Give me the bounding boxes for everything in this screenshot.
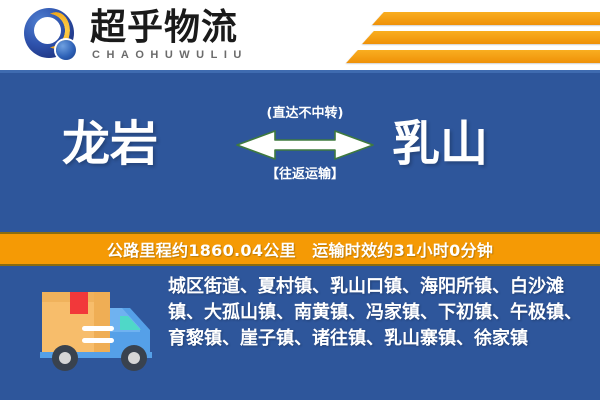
circle-q-logo-icon bbox=[22, 6, 80, 64]
speed-stripe-1 bbox=[372, 12, 600, 25]
route-section: 龙岩 (直达不中转) 【往返运输】 乳山 bbox=[0, 73, 600, 225]
brand-name-cn: 超乎物流 bbox=[90, 8, 248, 48]
origin-city-label: 龙岩 bbox=[62, 113, 158, 175]
covered-towns-list: 城区街道、夏村镇、乳山口镇、海阳所镇、白沙滩镇、大孤山镇、南黄镇、冯家镇、下初镇… bbox=[168, 274, 586, 352]
round-trip-note: 【往返运输】 bbox=[235, 166, 375, 184]
speed-stripe-2 bbox=[362, 31, 600, 44]
speed-stripe-3 bbox=[346, 50, 600, 63]
distance-duration-bar: 公路里程约1860.04公里 运输时效约31小时0分钟 bbox=[0, 232, 600, 266]
banner-header: 超乎物流 CHAOHUWULIU bbox=[0, 0, 600, 70]
brand-name-en: CHAOHUWULIU bbox=[90, 48, 248, 62]
delivery-truck-icon bbox=[22, 278, 162, 374]
destination-city-label: 乳山 bbox=[392, 113, 488, 175]
direct-service-note: (直达不中转) bbox=[235, 105, 375, 123]
double-arrow-icon bbox=[235, 127, 375, 161]
coverage-section: 城区街道、夏村镇、乳山口镇、海阳所镇、白沙滩镇、大孤山镇、南黄镇、冯家镇、下初镇… bbox=[0, 268, 600, 400]
brand-logo-group[interactable]: 超乎物流 CHAOHUWULIU bbox=[22, 6, 248, 64]
logistics-route-banner: 超乎物流 CHAOHUWULIU 龙岩 (直达不中转) 【往返运输】 乳山 公路… bbox=[0, 0, 600, 400]
route-middle-group: (直达不中转) 【往返运输】 bbox=[235, 105, 375, 205]
distance-duration-text: 公路里程约1860.04公里 运输时效约31小时0分钟 bbox=[107, 237, 493, 261]
brand-text-group: 超乎物流 CHAOHUWULIU bbox=[90, 8, 248, 62]
logo-dot-shape bbox=[56, 40, 76, 60]
